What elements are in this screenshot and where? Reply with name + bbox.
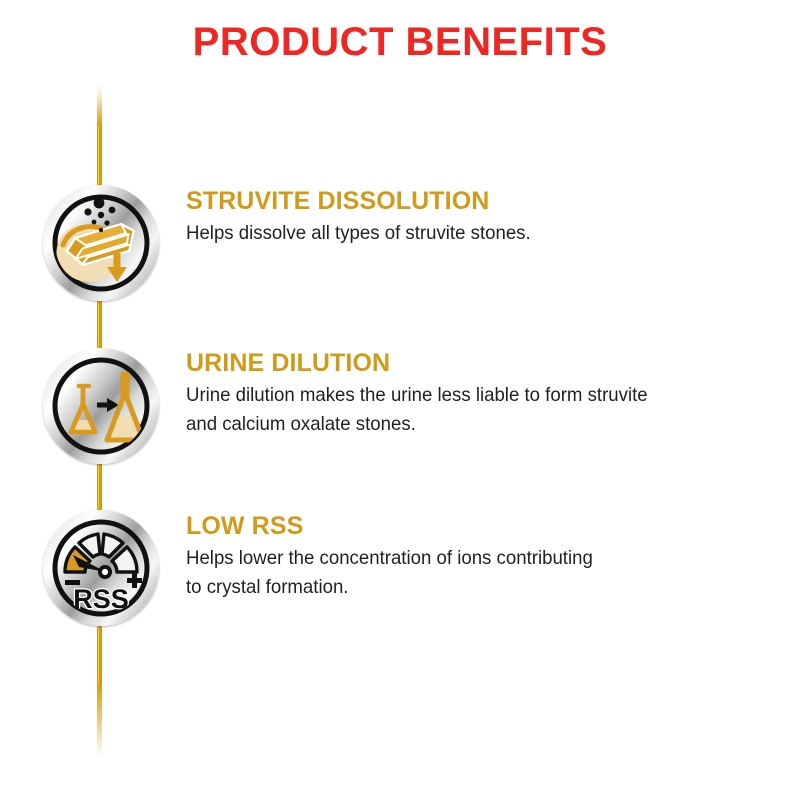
benefit-heading: URINE DILUTION — [186, 349, 786, 377]
benefit-text-block: URINE DILUTION Urine dilution makes the … — [186, 349, 786, 439]
benefit-heading: STRUVITE DISSOLUTION — [186, 187, 786, 215]
benefit-body-line: to crystal formation. — [186, 573, 759, 602]
two-flasks-dilution-icon — [43, 348, 159, 464]
benefit-text-block: STRUVITE DISSOLUTION Helps dissolve all … — [186, 187, 786, 248]
rss-gauge-label: RSS — [73, 584, 129, 614]
benefit-body-line: Helps lower the concentration of ions co… — [186, 544, 759, 573]
dissolving-stone-icon — [43, 185, 159, 301]
benefit-text-block: LOW RSS Helps lower the concentration of… — [186, 512, 786, 602]
page-title: PRODUCT BENEFITS — [0, 18, 800, 66]
benefit-body: Helps lower the concentration of ions co… — [186, 544, 759, 602]
benefit-body-line: Urine dilution makes the urine less liab… — [186, 381, 759, 410]
benefit-body: Urine dilution makes the urine less liab… — [186, 381, 759, 439]
benefit-body: Helps dissolve all types of struvite sto… — [186, 219, 759, 248]
rss-gauge-icon: RSS — [43, 510, 159, 626]
benefit-heading: LOW RSS — [186, 512, 786, 540]
benefit-body-line: and calcium oxalate stones. — [186, 410, 759, 439]
benefit-body-line: Helps dissolve all types of struvite sto… — [186, 219, 759, 248]
